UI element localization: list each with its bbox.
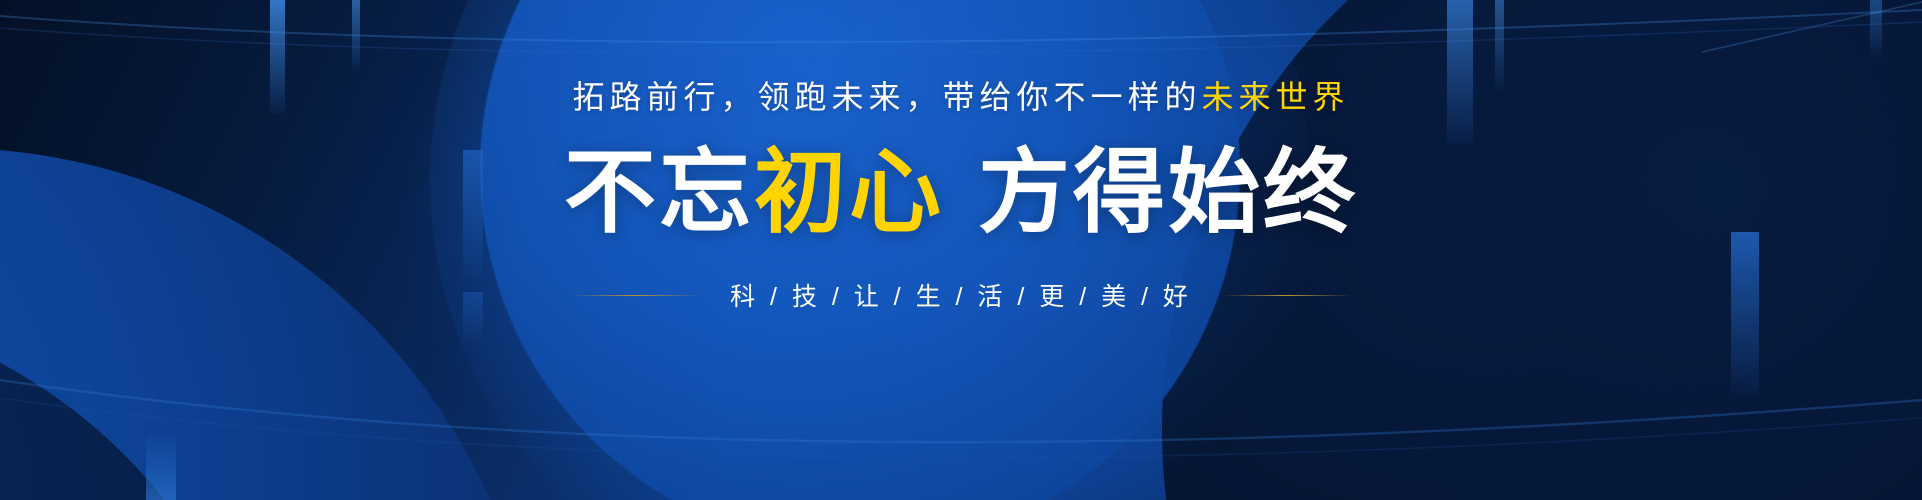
subtitle-white-text: 拓路前行，领跑未来，带给你不一样的 bbox=[572, 79, 1201, 115]
headline-part-3: 方得始终 bbox=[978, 142, 1358, 244]
banner-tagline-row: 科 / 技 / 让 / 生 / 活 / 更 / 美 / 好 bbox=[570, 277, 1352, 313]
headline-part-1: 不忘 bbox=[564, 142, 754, 244]
rule-right bbox=[1222, 295, 1352, 296]
banner-headline: 不忘初心方得始终 bbox=[564, 144, 1358, 243]
banner-content: 拓路前行，领跑未来，带给你不一样的未来世界 不忘初心方得始终 科 / 技 / 让… bbox=[0, 0, 1922, 500]
banner-subtitle: 拓路前行，领跑未来，带给你不一样的未来世界 bbox=[572, 72, 1349, 118]
headline-part-2-accent: 初心 bbox=[754, 142, 944, 244]
banner-tagline: 科 / 技 / 让 / 生 / 活 / 更 / 美 / 好 bbox=[730, 277, 1192, 313]
promo-banner: 拓路前行，领跑未来，带给你不一样的未来世界 不忘初心方得始终 科 / 技 / 让… bbox=[0, 0, 1922, 500]
subtitle-accent-text: 未来世界 bbox=[1202, 79, 1350, 115]
rule-left bbox=[570, 295, 700, 296]
